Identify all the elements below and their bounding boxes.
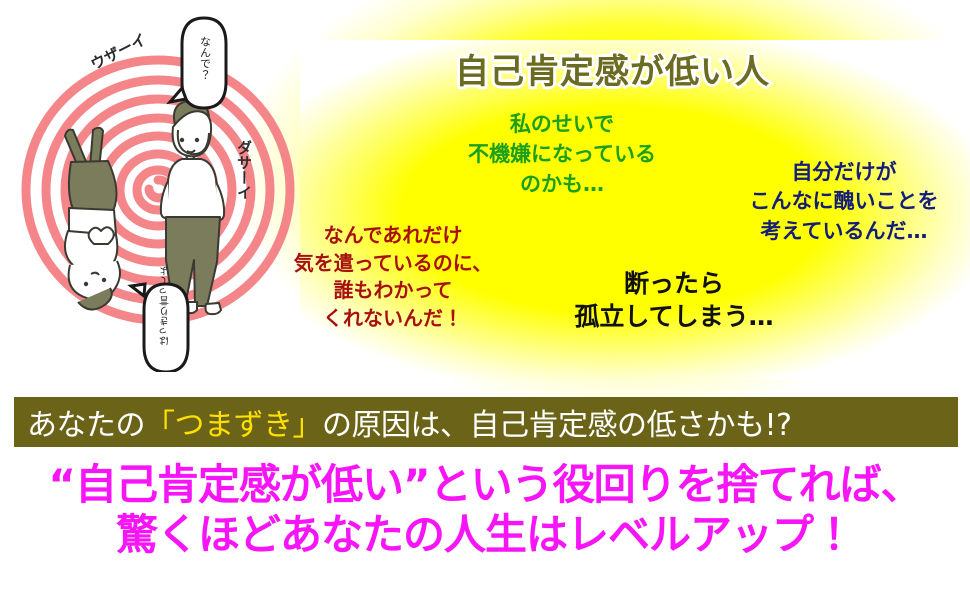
handwritten-dasai-text: ダサーイ [235, 139, 253, 200]
thought-navy: 自分だけが こんなに醜いことを 考えているんだ… [718, 158, 970, 246]
tagline-prefix: あなたの [27, 408, 145, 443]
thought-navy-line-2: こんなに醜いことを [718, 187, 970, 216]
page-title: 自己肯定感が低い人 [455, 52, 770, 93]
thought-navy-line-3: 考えているんだ… [718, 217, 970, 246]
thought-red-line-1: なんであれだけ [278, 222, 508, 250]
svg-text:なんで？: なんで？ [199, 36, 212, 80]
tagline-highlight: 「つまずき」 [145, 408, 322, 443]
svg-text:ダサーイ: ダサーイ [235, 139, 253, 200]
thought-green-line-3: のかも… [422, 170, 702, 200]
thought-green: 私のせいで 不機嫌になっている のかも… [422, 110, 702, 199]
spiral-illustration: ウザーイ ダサーイ なんで？ はっきり言ってよ [8, 12, 308, 372]
poster-page: ウザーイ ダサーイ なんで？ はっきり言ってよ 自己肯定感が低い人 [0, 0, 970, 600]
thought-red-line-4: くれないんだ！ [278, 305, 508, 333]
thought-red-line-2: 気を遣っているのに、 [278, 250, 508, 278]
tagline-suffix: の原因は、自己肯定感の低さかも!? [322, 408, 791, 443]
thought-black-line-1: 断ったら [528, 268, 820, 301]
thought-red: なんであれだけ 気を遣っているのに、 誰もわかって くれないんだ！ [278, 222, 508, 332]
thought-navy-line-1: 自分だけが [718, 158, 970, 187]
tagline-banner: あなたの「つまずき」の原因は、自己肯定感の低さかも!? [14, 397, 958, 447]
closing-message-line-2: 驚くほどあなたの人生はレベルアップ！ [0, 512, 970, 558]
thought-red-line-3: 誰もわかって [278, 277, 508, 305]
svg-text:はっきり言ってよ: はっきり言ってよ [160, 266, 172, 346]
thought-green-line-1: 私のせいで [422, 110, 702, 140]
tagline-banner-text: あなたの「つまずき」の原因は、自己肯定感の低さかも!? [14, 400, 791, 444]
closing-message-line-1: “自己肯定感が低い”という役回りを捨てれば、 [0, 462, 970, 508]
thought-black: 断ったら 孤立してしまう… [528, 268, 820, 333]
closing-message: “自己肯定感が低い”という役回りを捨てれば、 驚くほどあなたの人生はレベルアップ… [0, 462, 970, 558]
thought-green-line-2: 不機嫌になっている [422, 140, 702, 170]
thought-black-line-2: 孤立してしまう… [528, 301, 820, 334]
